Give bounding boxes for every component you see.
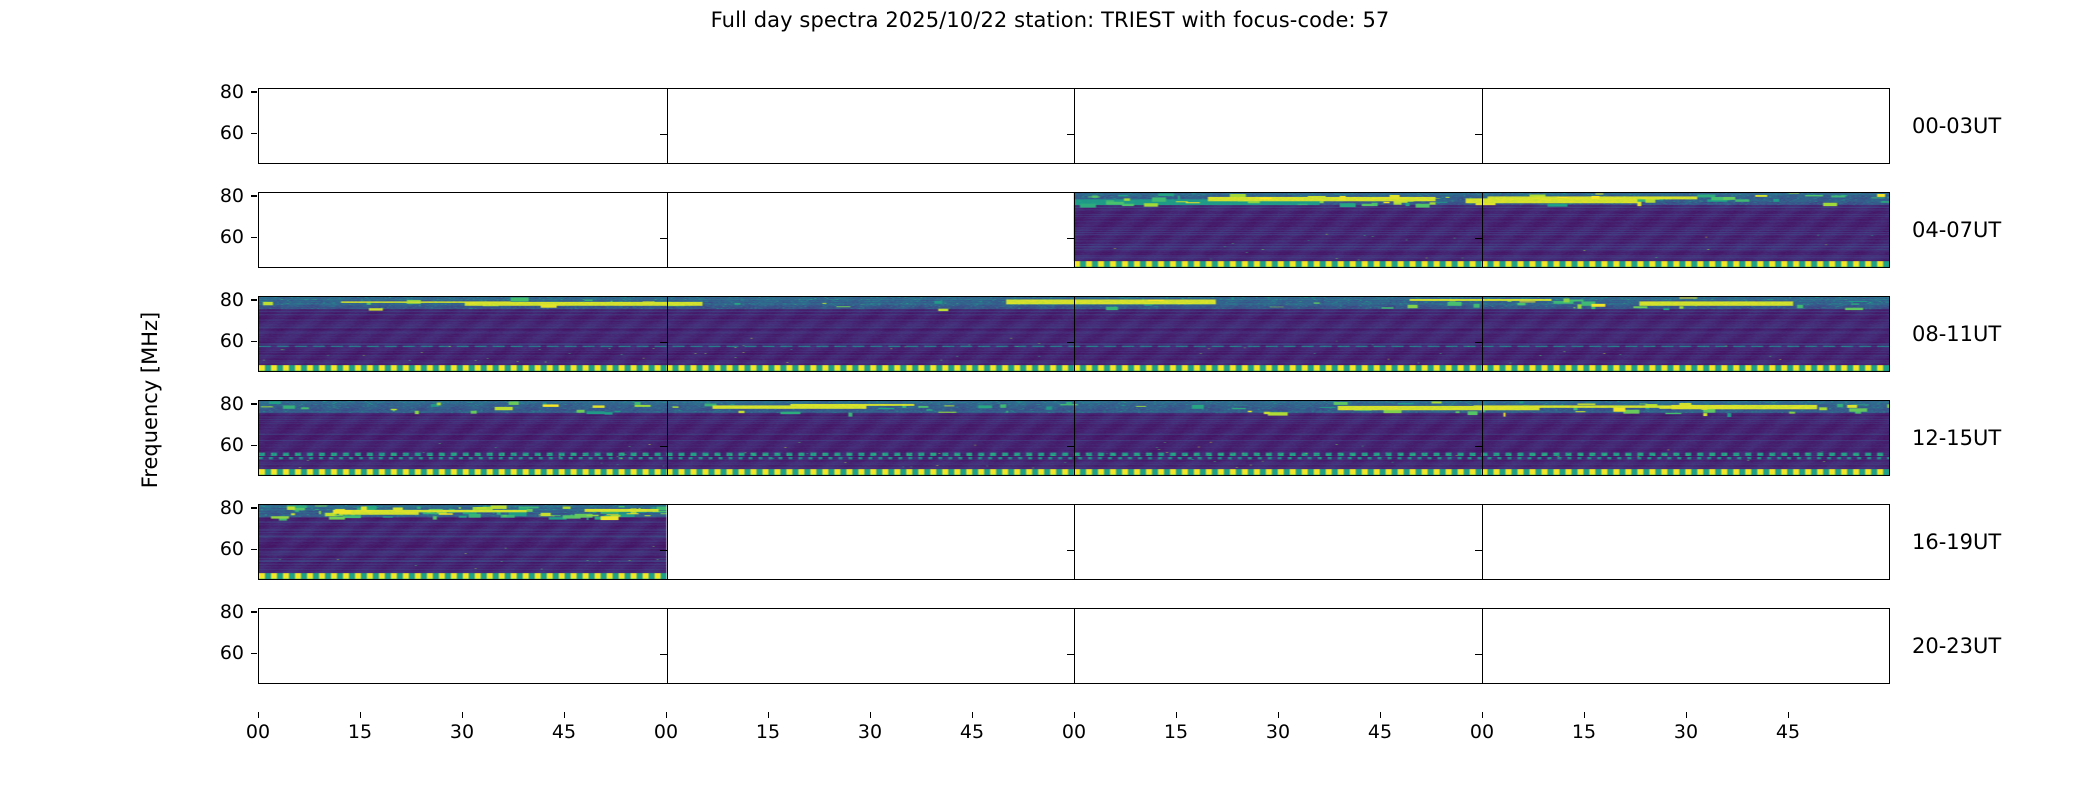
y-axis-tick bbox=[251, 653, 257, 654]
x-axis-tick-label: 00 bbox=[1062, 721, 1086, 743]
y-axis-tick-label: 60 bbox=[0, 122, 244, 144]
x-axis-tick-label: 45 bbox=[552, 721, 576, 743]
row-label-20-23ut: 20-23UT bbox=[1912, 634, 2001, 658]
x-axis-tick-label: 15 bbox=[1164, 721, 1188, 743]
x-axis-tick bbox=[1584, 712, 1585, 718]
spectrogram-panel[interactable] bbox=[258, 400, 1890, 476]
spectrogram-image bbox=[259, 505, 1889, 579]
y-axis-tick bbox=[251, 507, 257, 508]
y-axis-tick-label: 80 bbox=[0, 289, 244, 311]
spectrogram-image bbox=[259, 609, 1889, 683]
spectrogram-image bbox=[259, 89, 1889, 163]
x-axis-tick bbox=[1788, 712, 1789, 718]
figure-canvas: Full day spectra 2025/10/22 station: TRI… bbox=[0, 0, 2100, 800]
spectrogram-panel[interactable] bbox=[258, 296, 1890, 372]
y-axis-tick-label: 80 bbox=[0, 81, 244, 103]
y-axis-tick-label: 60 bbox=[0, 434, 244, 456]
y-axis-tick bbox=[251, 299, 257, 300]
x-axis-tick-label: 00 bbox=[1470, 721, 1494, 743]
x-axis-tick-label: 15 bbox=[348, 721, 372, 743]
spectrogram-panel[interactable] bbox=[258, 504, 1890, 580]
y-axis-tick-label: 60 bbox=[0, 642, 244, 664]
x-axis-tick-label: 30 bbox=[1674, 721, 1698, 743]
y-axis-tick bbox=[251, 237, 257, 238]
y-axis-tick bbox=[251, 195, 257, 196]
y-axis-tick bbox=[251, 445, 257, 446]
y-axis-tick bbox=[251, 133, 257, 134]
x-axis-tick-label: 00 bbox=[246, 721, 270, 743]
x-axis-tick-label: 15 bbox=[756, 721, 780, 743]
y-axis-tick bbox=[251, 341, 257, 342]
x-axis-tick-label: 45 bbox=[960, 721, 984, 743]
x-axis-tick-label: 00 bbox=[654, 721, 678, 743]
y-axis-tick-label: 80 bbox=[0, 601, 244, 623]
x-axis-tick bbox=[870, 712, 871, 718]
x-axis-tick-label: 45 bbox=[1776, 721, 1800, 743]
y-axis-tick-label: 80 bbox=[0, 185, 244, 207]
y-axis-tick bbox=[251, 549, 257, 550]
x-axis-tick bbox=[666, 712, 667, 718]
row-label-08-11ut: 08-11UT bbox=[1912, 322, 2001, 346]
row-label-12-15ut: 12-15UT bbox=[1912, 426, 2001, 450]
row-label-16-19ut: 16-19UT bbox=[1912, 530, 2001, 554]
x-axis-tick bbox=[360, 712, 361, 718]
spectrogram-panel[interactable] bbox=[258, 88, 1890, 164]
x-axis-tick bbox=[1380, 712, 1381, 718]
x-axis-tick bbox=[564, 712, 565, 718]
y-axis-tick bbox=[251, 611, 257, 612]
y-axis-tick bbox=[251, 403, 257, 404]
x-axis-tick bbox=[1686, 712, 1687, 718]
x-axis-tick bbox=[462, 712, 463, 718]
spectrogram-image bbox=[259, 193, 1889, 267]
x-axis-tick bbox=[1074, 712, 1075, 718]
page-title: Full day spectra 2025/10/22 station: TRI… bbox=[0, 8, 2100, 32]
row-label-00-03ut: 00-03UT bbox=[1912, 114, 2001, 138]
x-axis-tick bbox=[258, 712, 259, 718]
x-axis-tick bbox=[1278, 712, 1279, 718]
row-label-04-07ut: 04-07UT bbox=[1912, 218, 2001, 242]
x-axis-tick bbox=[768, 712, 769, 718]
x-axis-tick bbox=[1176, 712, 1177, 718]
x-axis-tick-label: 30 bbox=[858, 721, 882, 743]
y-axis-tick-label: 60 bbox=[0, 538, 244, 560]
x-axis-ticks: 00153045001530450015304500153045 bbox=[258, 712, 1890, 752]
spectrogram-image bbox=[259, 401, 1889, 475]
x-axis-tick-label: 30 bbox=[450, 721, 474, 743]
x-axis-tick-label: 15 bbox=[1572, 721, 1596, 743]
x-axis-tick-label: 45 bbox=[1368, 721, 1392, 743]
spectrogram-panel[interactable] bbox=[258, 192, 1890, 268]
x-axis-tick bbox=[972, 712, 973, 718]
y-axis-tick bbox=[251, 91, 257, 92]
y-axis-tick-label: 60 bbox=[0, 226, 244, 248]
x-axis-tick-label: 30 bbox=[1266, 721, 1290, 743]
y-axis-tick-label: 80 bbox=[0, 497, 244, 519]
y-axis-tick-label: 60 bbox=[0, 330, 244, 352]
spectrogram-panel[interactable] bbox=[258, 608, 1890, 684]
spectrogram-image bbox=[259, 297, 1889, 371]
x-axis-tick bbox=[1482, 712, 1483, 718]
y-axis-tick-label: 80 bbox=[0, 393, 244, 415]
